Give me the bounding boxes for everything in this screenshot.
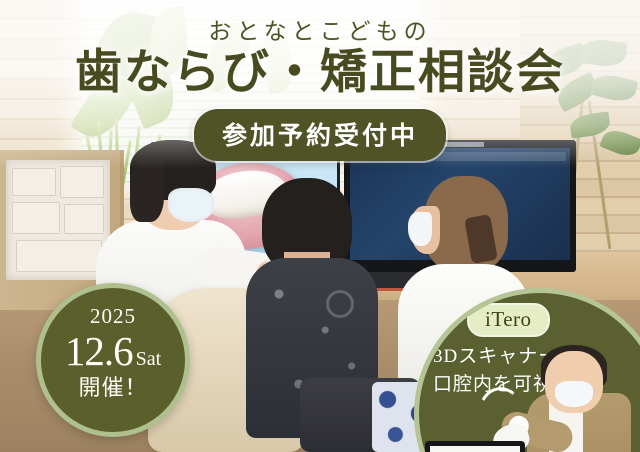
banner-subtitle: おとなとこどもの <box>0 0 640 46</box>
itero-scanning-photo <box>419 393 640 452</box>
event-held-note: 開催！ <box>41 373 185 399</box>
shirt-logo <box>326 290 354 318</box>
event-date: 12.6Sat <box>41 327 185 373</box>
banner-title: 歯ならび・矯正相談会 <box>0 46 640 99</box>
itero-label-pill: iTero <box>467 303 550 337</box>
event-date-number: 12.6 <box>65 328 133 374</box>
hygienist-face-mask <box>555 381 593 407</box>
dentist-face-mask <box>168 188 214 222</box>
event-year: 2025 <box>41 288 185 327</box>
mother-face-mask <box>408 212 432 246</box>
event-day-of-week: Sat <box>136 348 162 370</box>
scanner-screen <box>430 446 520 452</box>
dental-consultation-banner: おとなとこどもの 歯ならび・矯正相談会 参加予約受付中 2025 12.6Sat… <box>0 0 640 452</box>
banner-header: おとなとこどもの 歯ならび・矯正相談会 参加予約受付中 <box>0 0 640 161</box>
reservation-badge[interactable]: 参加予約受付中 <box>194 109 446 161</box>
cabinet-interior <box>6 160 110 280</box>
event-date-circle: 2025 12.6Sat 開催！ <box>36 283 190 437</box>
scanner-tablet <box>425 441 525 452</box>
dentist-hair-side <box>130 160 164 222</box>
